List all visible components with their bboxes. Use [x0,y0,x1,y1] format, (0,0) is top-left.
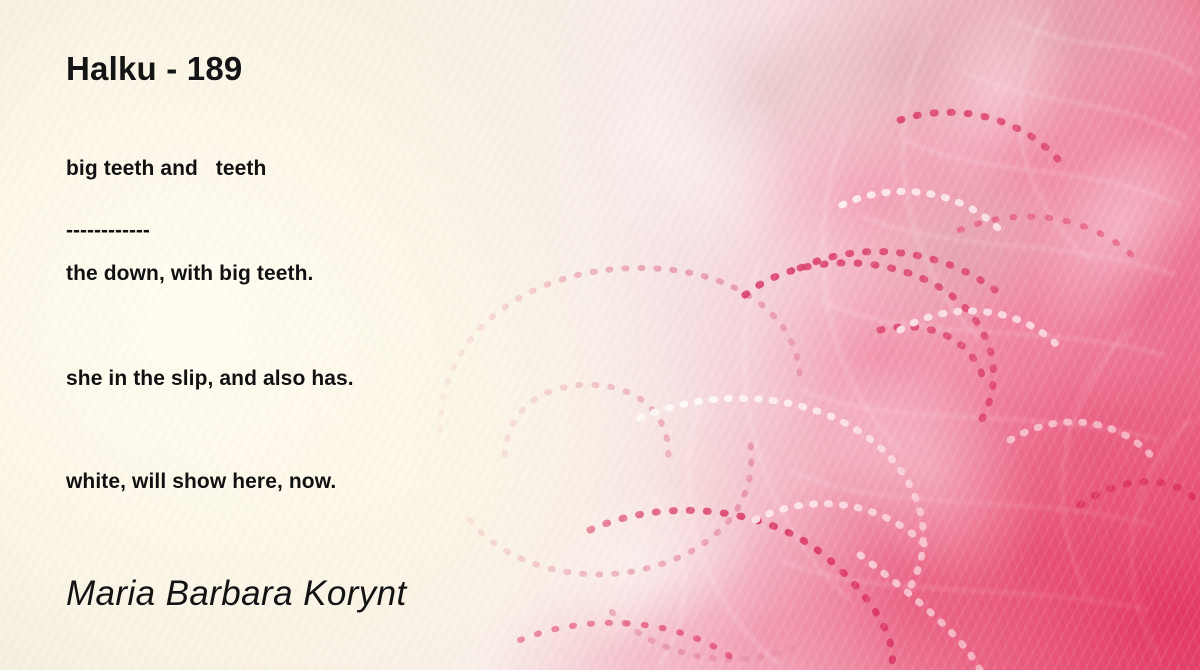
poem-divider-line: ------------ [66,220,706,241]
poem-line-1: big teeth and teeth [66,158,706,179]
poem-author: Maria Barbara Korynt [66,574,407,614]
poem-content: Halku - 189 big teeth and teeth --------… [0,0,1200,670]
poem-line-4: white, will show here, now. [66,471,706,492]
poem-card: Halku - 189 big teeth and teeth --------… [0,0,1200,670]
poem-body: big teeth and teeth ------------ the dow… [66,150,706,492]
poem-line-2: the down, with big teeth. [66,263,706,284]
poem-title: Halku - 189 [66,50,242,88]
poem-line-3: she in the slip, and also has. [66,368,706,389]
